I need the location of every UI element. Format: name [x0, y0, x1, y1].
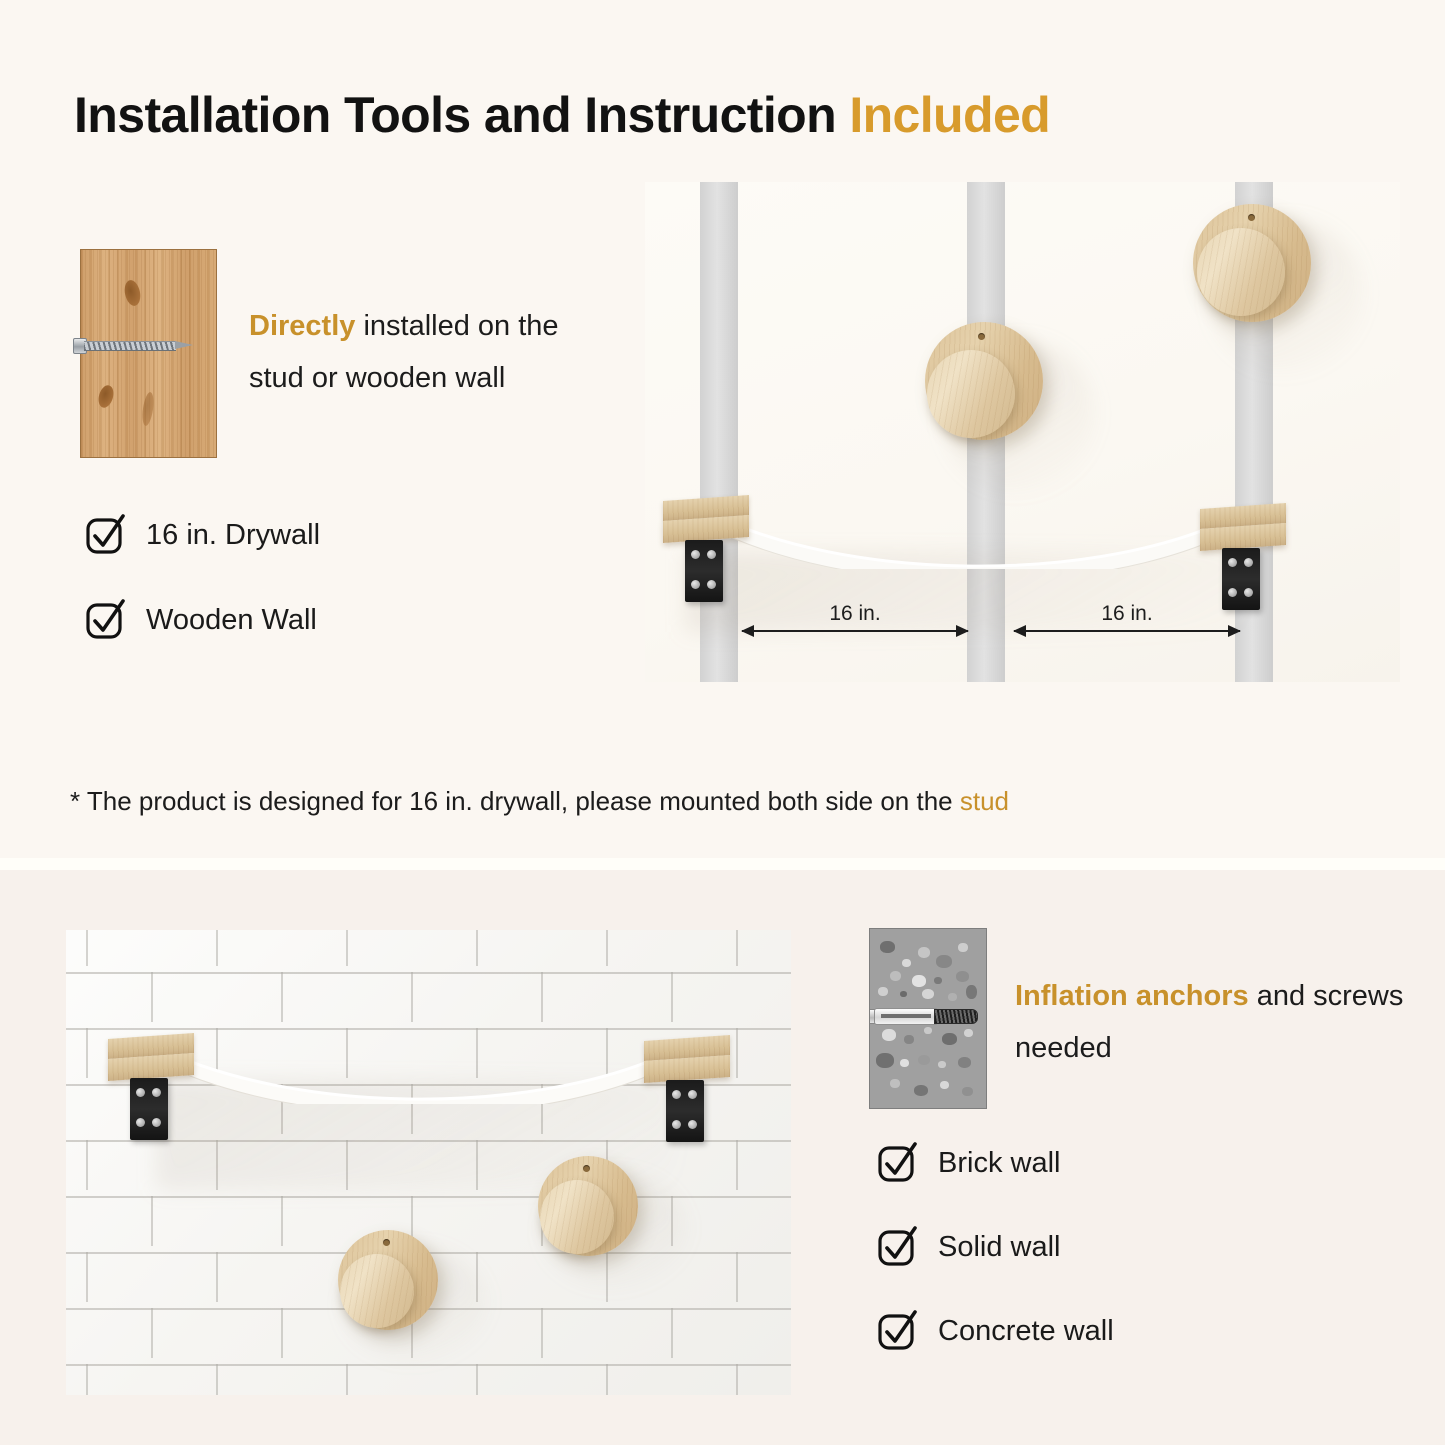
checkbox-checked-icon	[876, 1224, 922, 1270]
directly-accent-text: Directly	[249, 310, 355, 342]
bracket-screw-icon	[688, 1090, 697, 1099]
dimension-arrow	[1014, 630, 1240, 632]
cat-step-disc	[1197, 228, 1285, 316]
checklist-label: 16 in. Drywall	[146, 519, 320, 552]
inflation-anchors-text: Inflation anchors and screws needed	[1015, 970, 1405, 1074]
screw-hole-icon	[583, 1165, 590, 1172]
screw-thread-icon	[84, 341, 176, 351]
bracket-wood-bar	[663, 515, 749, 543]
inflation-anchors-accent-text: Inflation anchors	[1015, 980, 1249, 1012]
bracket-screw-icon	[688, 1120, 697, 1129]
dimension-arrow	[742, 630, 968, 632]
dimension-label: 16 in.	[829, 602, 880, 626]
wood-panel-icon	[80, 249, 217, 458]
footnote: * The product is designed for 16 in. dry…	[70, 786, 1009, 817]
brick-wall-photo	[66, 930, 791, 1395]
bracket-screw-icon	[136, 1088, 145, 1097]
bracket-metal-plate	[1222, 548, 1260, 610]
dimension-label: 16 in.	[1101, 602, 1152, 626]
screw-tip-icon	[175, 341, 193, 349]
wood-knot-icon	[122, 279, 142, 308]
footnote-accent-text: stud	[960, 786, 1009, 816]
checkbox-checked-icon	[84, 512, 130, 558]
directly-installed-text: Directly installed on the stud or wooden…	[249, 300, 599, 404]
bracket-metal-plate	[666, 1080, 704, 1142]
bracket-screw-icon	[691, 580, 700, 589]
wooden-cat-step	[538, 1156, 638, 1256]
checklist-item-drywall: 16 in. Drywall	[84, 512, 320, 558]
page-title-main: Installation Tools and Instruction	[74, 87, 849, 143]
bracket-screw-icon	[152, 1088, 161, 1097]
bracket-metal-plate	[130, 1078, 168, 1140]
wood-knot-icon	[96, 384, 116, 410]
hammock-fabric	[152, 1042, 664, 1104]
bracket-wood-bar	[644, 1055, 730, 1083]
bracket-screw-icon	[691, 550, 700, 559]
hammock-bracket	[663, 492, 753, 612]
wooden-cat-step	[1193, 204, 1311, 322]
checklist-item-solid-wall: Solid wall	[876, 1224, 1061, 1270]
bracket-metal-plate	[685, 540, 723, 602]
bracket-screw-icon	[672, 1090, 681, 1099]
checkbox-checked-icon	[876, 1308, 922, 1354]
cat-step-disc	[340, 1254, 414, 1328]
checklist-item-wooden-wall: Wooden Wall	[84, 597, 317, 643]
screw-hole-icon	[1248, 214, 1255, 221]
checklist-item-concrete-wall: Concrete wall	[876, 1308, 1114, 1354]
screw-hole-icon	[383, 1239, 390, 1246]
wooden-cat-step	[338, 1230, 438, 1330]
bracket-screw-icon	[1228, 588, 1237, 597]
concrete-panel-icon	[869, 928, 987, 1109]
page-title-accent: Included	[849, 87, 1050, 143]
hammock-bracket	[1200, 500, 1290, 620]
bracket-wood-bar	[108, 1053, 194, 1081]
anchor-expansion-body-icon	[934, 1009, 978, 1024]
bracket-screw-icon	[1244, 558, 1253, 567]
hammock-fabric	[707, 507, 1223, 569]
hammock-bracket	[644, 1032, 734, 1152]
section-divider	[0, 858, 1445, 870]
checklist-label: Brick wall	[938, 1147, 1060, 1180]
anchor-sleeve-icon	[874, 1008, 938, 1025]
checklist-label: Concrete wall	[938, 1315, 1114, 1348]
screw-hole-icon	[978, 333, 985, 340]
infographic-page: Installation Tools and Instruction Inclu…	[0, 0, 1445, 1445]
footnote-main-text: * The product is designed for 16 in. dry…	[70, 786, 960, 816]
page-title: Installation Tools and Instruction Inclu…	[74, 86, 1050, 144]
checklist-item-brick-wall: Brick wall	[876, 1140, 1060, 1186]
bracket-screw-icon	[672, 1120, 681, 1129]
studs-wall-photo	[645, 182, 1400, 682]
bracket-screw-icon	[707, 550, 716, 559]
bracket-screw-icon	[707, 580, 716, 589]
bracket-wood-bar	[1200, 523, 1286, 551]
wooden-cat-step	[925, 322, 1043, 440]
checkbox-checked-icon	[84, 597, 130, 643]
bracket-screw-icon	[1244, 588, 1253, 597]
screw-icon	[73, 337, 195, 353]
inflation-anchor-icon	[869, 1007, 982, 1024]
checkbox-checked-icon	[876, 1140, 922, 1186]
bracket-screw-icon	[152, 1118, 161, 1127]
wood-knot-icon	[141, 391, 156, 426]
cat-step-disc	[927, 350, 1015, 438]
hammock-bracket	[108, 1030, 198, 1150]
cat-step-disc	[540, 1180, 614, 1254]
checklist-label: Solid wall	[938, 1231, 1061, 1264]
bracket-screw-icon	[1228, 558, 1237, 567]
bracket-screw-icon	[136, 1118, 145, 1127]
checklist-label: Wooden Wall	[146, 604, 317, 637]
